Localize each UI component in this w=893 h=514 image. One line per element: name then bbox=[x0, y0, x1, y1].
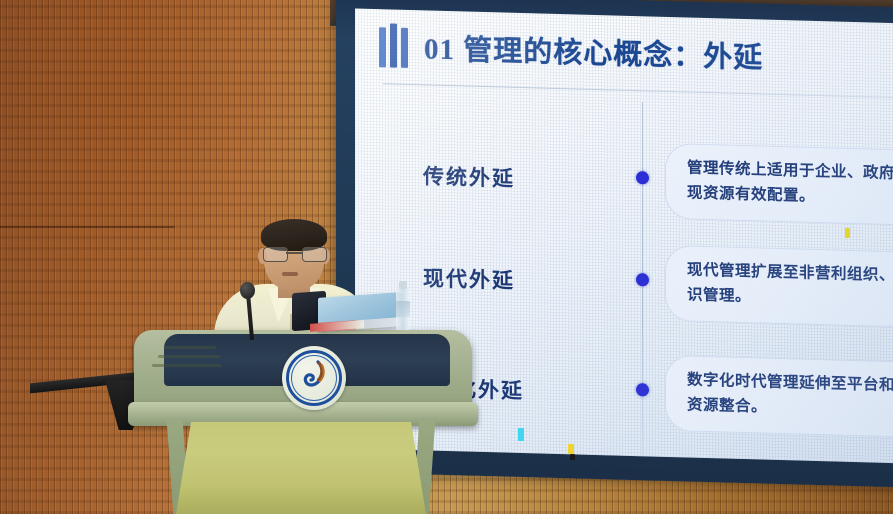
emblem-swirl-icon bbox=[298, 360, 330, 396]
slide-title-row: 01 管理的核心概念：外延 bbox=[379, 23, 763, 77]
wall-seam bbox=[0, 226, 175, 228]
timeline-label-2: 现代外延 bbox=[423, 262, 643, 298]
university-emblem bbox=[282, 346, 346, 410]
led-dead-pixel-cyan bbox=[518, 428, 524, 441]
led-dead-pixel-dark bbox=[570, 454, 575, 460]
speaker-mouth bbox=[282, 272, 298, 276]
speaker-glasses bbox=[262, 247, 326, 261]
timeline-card-2: 现代管理扩展至非营利组织、社 识管理。 bbox=[665, 245, 893, 332]
led-dead-pixel-yellow bbox=[845, 228, 850, 238]
lecture-hall-photo: 01 管理的核心概念：外延 传统外延 管理传统上适用于企业、政府、军 现资源有效… bbox=[0, 0, 893, 514]
timeline-card-3: 数字化时代管理延伸至平台和生 资源整合。 bbox=[665, 355, 893, 442]
timeline-label-1: 传统外延 bbox=[423, 160, 643, 196]
water-bottle-label bbox=[396, 301, 410, 317]
led-dead-pixel-yellow-2 bbox=[568, 444, 574, 454]
microphone-head bbox=[240, 282, 255, 299]
timeline-dot-2 bbox=[636, 273, 649, 286]
lectern-podium bbox=[128, 330, 478, 514]
timeline-card-2-line-2: 识管理。 bbox=[687, 283, 893, 317]
podium-side-grooves bbox=[150, 346, 222, 392]
timeline-dot-1 bbox=[636, 171, 649, 184]
timeline-card-1-line-2: 现资源有效配置。 bbox=[687, 181, 893, 215]
timeline-dot-3 bbox=[636, 383, 649, 396]
slide-title: 01 管理的核心概念：外延 bbox=[424, 25, 763, 76]
podium-base-panel bbox=[176, 422, 426, 514]
title-divider bbox=[383, 83, 893, 99]
three-bars-icon bbox=[379, 23, 408, 68]
water-bottle bbox=[396, 288, 410, 330]
timeline-card-1: 管理传统上适用于企业、政府、军 现资源有效配置。 bbox=[665, 143, 893, 230]
timeline-card-3-line-2: 资源整合。 bbox=[687, 393, 893, 427]
